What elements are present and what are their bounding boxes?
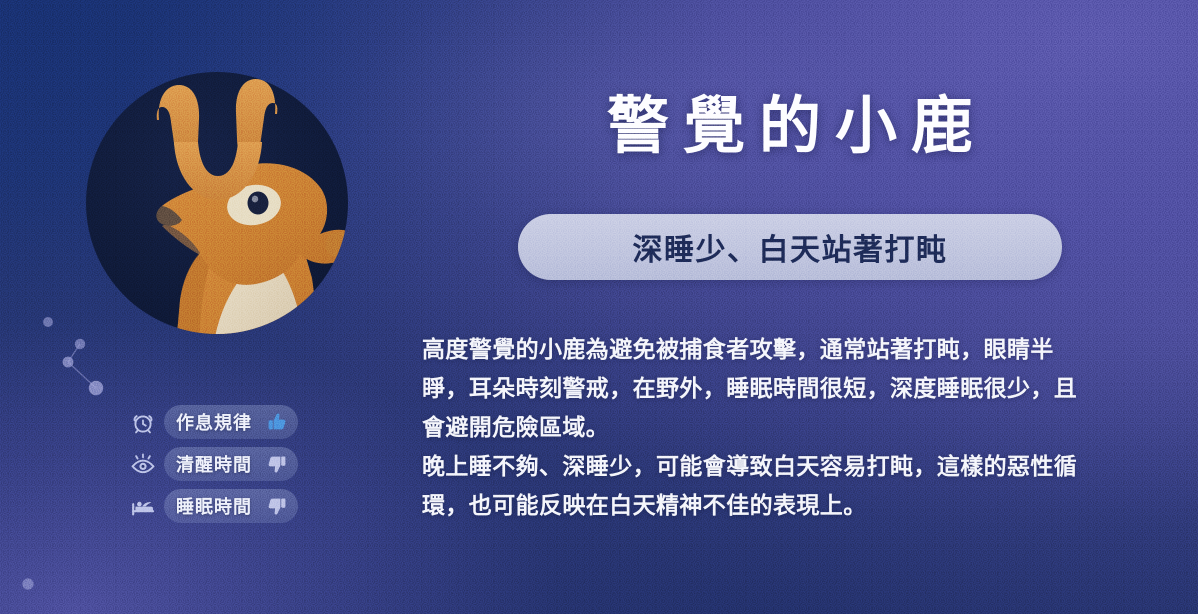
metric-label-sleep: 睡眠時間 [176,493,252,519]
constellation-dot-lower-icon [14,568,48,602]
metric-chip-schedule[interactable]: 作息規律 [164,405,298,439]
metric-row-sleep[interactable]: 睡眠時間 [130,489,298,523]
thumbs-down-icon [266,453,288,475]
metric-chip-list: 作息規律 [130,405,298,523]
description-paragraph-2: 晚上睡不夠、深睡少，可能會導致白天容易打盹，這樣的惡性循環，也可能反映在白天精神… [422,447,1094,525]
metric-row-awake[interactable]: 清醒時間 [130,447,298,481]
alarm-clock-icon [130,409,156,435]
open-eye-icon [130,451,156,477]
page-title: 警覺的小鹿 [520,92,1060,161]
metric-label-awake: 清醒時間 [176,451,252,477]
subtitle-text: 深睡少、白天站著打盹 [633,225,948,269]
metric-label-schedule: 作息規律 [176,409,252,435]
metric-chip-sleep[interactable]: 睡眠時間 [164,489,298,523]
hero-card: 作息規律 [0,0,1198,614]
metric-row-schedule[interactable]: 作息規律 [130,405,298,439]
thumbs-up-icon [266,411,288,433]
description-block: 高度警覺的小鹿為避免被捕食者攻擊，通常站著打盹，眼睛半睜，耳朵時刻警戒，在野外，… [422,330,1094,525]
subtitle-pill: 深睡少、白天站著打盹 [518,214,1062,280]
description-paragraph-1: 高度警覺的小鹿為避免被捕食者攻擊，通常站著打盹，眼睛半睜，耳朵時刻警戒，在野外，… [422,330,1094,447]
bed-icon [130,493,156,519]
thumbs-down-icon [266,495,288,517]
metric-chip-awake[interactable]: 清醒時間 [164,447,298,481]
deer-illustration-icon [62,38,372,368]
deer-medallion [86,72,348,334]
